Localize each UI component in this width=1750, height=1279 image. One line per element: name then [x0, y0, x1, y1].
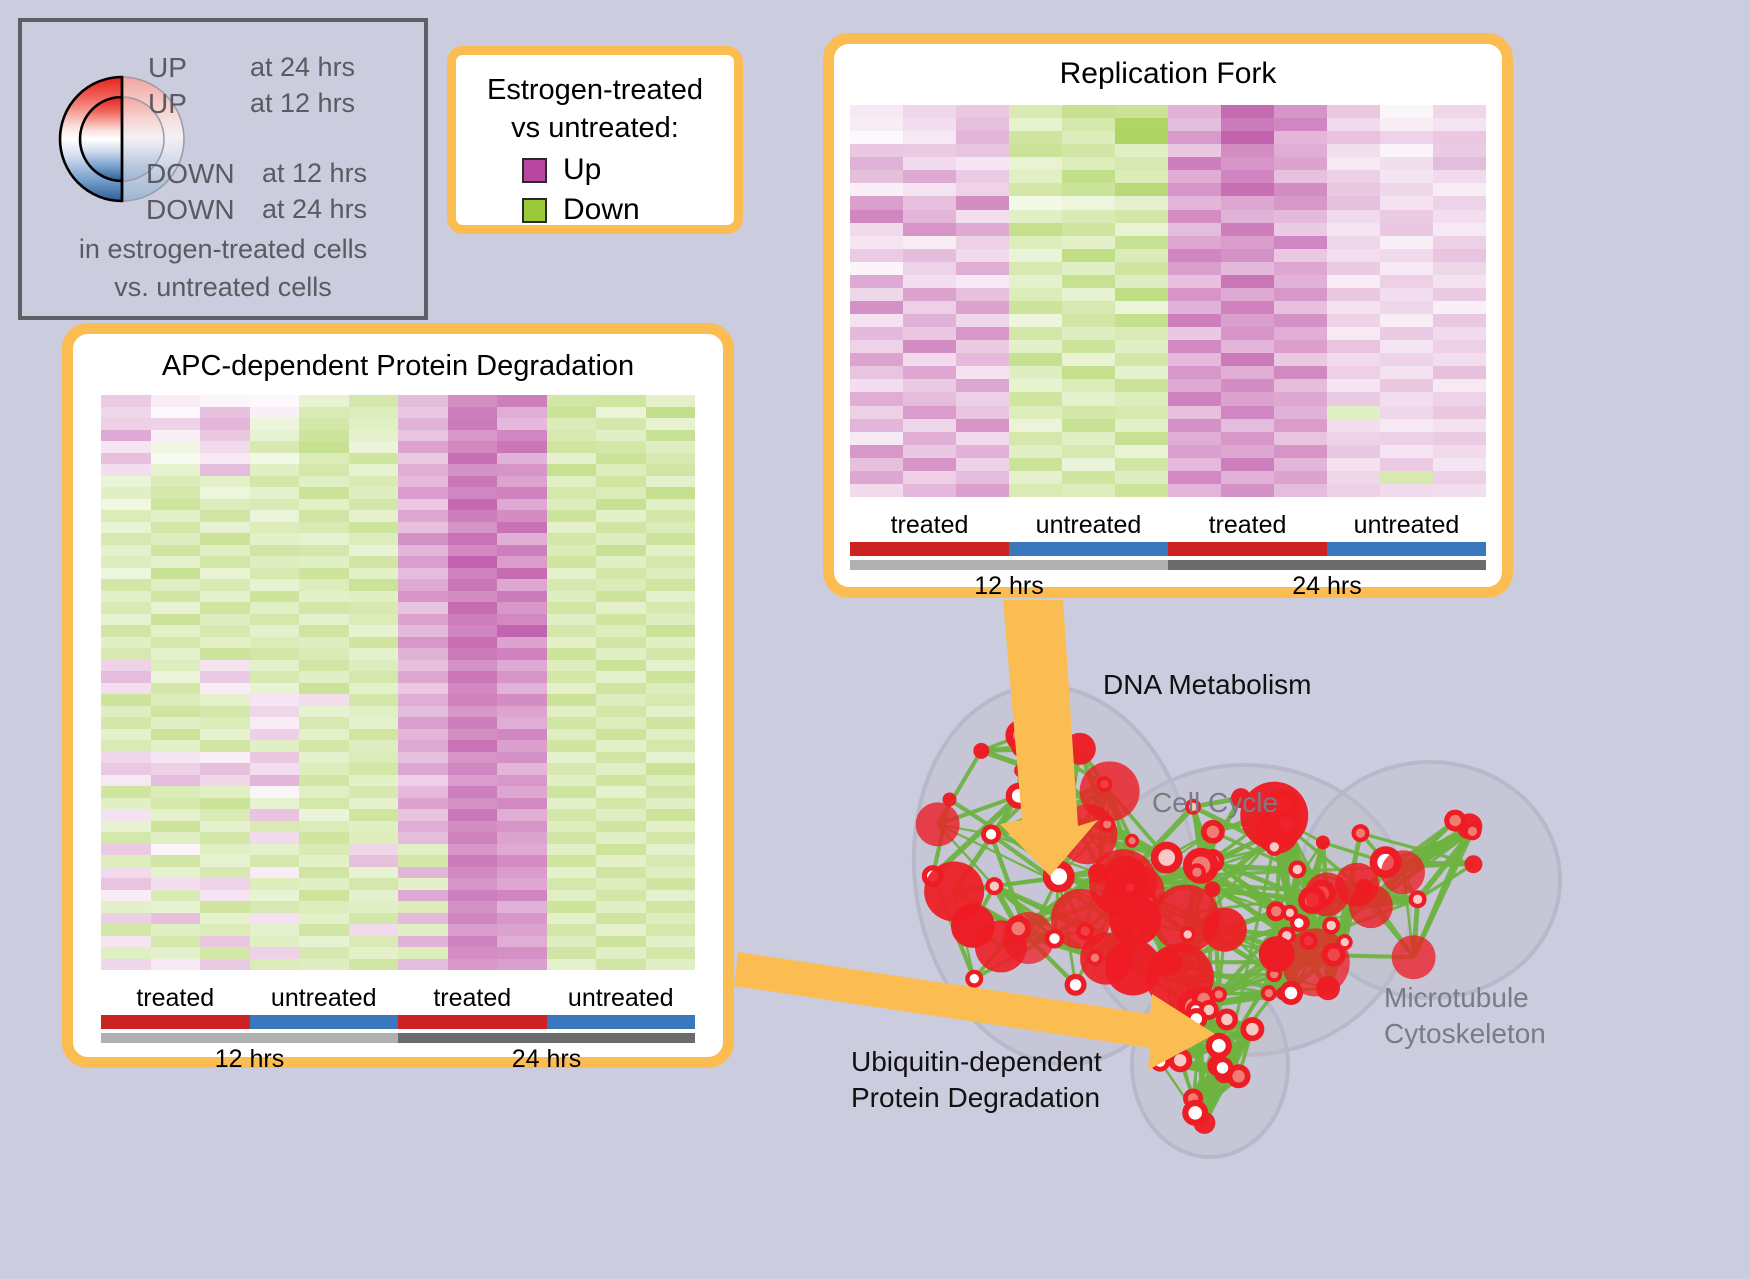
heatmap-cell: [596, 786, 646, 798]
heatmap-cell: [646, 660, 696, 672]
heatmap-cell: [299, 625, 349, 637]
heatmap-cell: [497, 533, 547, 545]
heatmap-cell: [1115, 419, 1168, 432]
heatmap-cell: [1380, 327, 1433, 340]
heatmap-cell: [250, 717, 300, 729]
heatmap-cell: [547, 890, 597, 902]
heatmap-cell: [596, 798, 646, 810]
heatmap-cell: [547, 763, 597, 775]
heatmap-cell: [1062, 131, 1115, 144]
heatmap-cell: [101, 809, 151, 821]
heatmap-cell: [1274, 183, 1327, 196]
heatmap-cell: [1168, 288, 1221, 301]
heatmap-cell: [1433, 445, 1486, 458]
heatmap-cell: [497, 717, 547, 729]
heatmap-cell: [646, 637, 696, 649]
heatmap-cell: [1221, 223, 1274, 236]
heatmap-cell: [646, 522, 696, 534]
heatmap-cell: [1327, 223, 1380, 236]
heatmap-cell: [200, 395, 250, 407]
heatmap-cell: [1168, 353, 1221, 366]
heatmap-cell: [448, 798, 498, 810]
heatmap-cell: [101, 683, 151, 695]
rf-timepoint-bar: [850, 560, 1486, 570]
heatmap-cell: [349, 476, 399, 488]
heatmap-cell: [1168, 471, 1221, 484]
heatmap-cell: [101, 545, 151, 557]
heatmap-cell: [349, 430, 399, 442]
heatmap-cell: [1380, 157, 1433, 170]
heatmap-cell: [299, 464, 349, 476]
heatmap-cell: [1380, 196, 1433, 209]
heatmap-cell: [398, 890, 448, 902]
group-label: treated: [101, 984, 250, 1013]
heatmap-cell: [151, 648, 201, 660]
heatmap-cell: [547, 706, 597, 718]
heatmap-cell: [1115, 275, 1168, 288]
heatmap-cell: [1274, 262, 1327, 275]
heatmap-cell: [1168, 196, 1221, 209]
heatmap-cell: [547, 648, 597, 660]
heatmap-cell: [1062, 275, 1115, 288]
heatmap-cell: [398, 924, 448, 936]
network-node: [1080, 761, 1140, 821]
network-node: [942, 793, 956, 807]
heatmap-cell: [596, 671, 646, 683]
heatmap-cell: [1115, 157, 1168, 170]
heatmap-cell: [349, 936, 399, 948]
heatmap-cell: [398, 579, 448, 591]
heatmap-cell: [1221, 458, 1274, 471]
heatmap-cell: [646, 706, 696, 718]
heatmap-cell: [850, 131, 903, 144]
heatmap-cell: [596, 614, 646, 626]
heatmap-cell: [956, 210, 1009, 223]
heatmap-cell: [448, 855, 498, 867]
heatmap-cell: [596, 867, 646, 879]
heatmap-cell: [497, 763, 547, 775]
replication-fork-title: Replication Fork: [834, 57, 1502, 91]
heatmap-cell: [299, 752, 349, 764]
heatmap-cell: [547, 683, 597, 695]
heatmap-cell: [151, 763, 201, 775]
heatmap-cell: [497, 878, 547, 890]
heatmap-cell: [349, 809, 399, 821]
network-node: [1305, 872, 1349, 916]
heatmap-cell: [349, 947, 399, 959]
heatmap-cell: [1062, 379, 1115, 392]
heatmap-cell: [448, 602, 498, 614]
heatmap-cell: [349, 775, 399, 787]
heatmap-cell: [1433, 183, 1486, 196]
timepoint-segment: [398, 1033, 695, 1043]
heatmap-cell: [903, 249, 956, 262]
heatmap-cell: [596, 407, 646, 419]
heatmap-cell: [448, 867, 498, 879]
heatmap-cell: [151, 430, 201, 442]
heatmap-cell: [547, 660, 597, 672]
heatmap-cell: [101, 522, 151, 534]
heatmap-cell: [1380, 432, 1433, 445]
heatmap-cell: [1380, 340, 1433, 353]
heatmap-cell: [646, 786, 696, 798]
heatmap-cell: [1221, 366, 1274, 379]
heatmap-cell: [398, 763, 448, 775]
heatmap-cell: [1327, 353, 1380, 366]
heatmap-cell: [1115, 131, 1168, 144]
heatmap-cell: [1274, 105, 1327, 118]
heatmap-cell: [1062, 353, 1115, 366]
network-node-core: [1449, 815, 1460, 826]
heatmap-cell: [200, 637, 250, 649]
heatmap-cell: [349, 821, 399, 833]
heatmap-cell: [200, 775, 250, 787]
heatmap-cell: [1433, 484, 1486, 497]
heatmap-cell: [101, 591, 151, 603]
heatmap-cell: [547, 867, 597, 879]
heatmap-cell: [596, 395, 646, 407]
heatmap-cell: [646, 809, 696, 821]
heatmap-cell: [1062, 301, 1115, 314]
heatmap-cell: [1168, 458, 1221, 471]
heatmap-cell: [349, 763, 399, 775]
heatmap-cell: [497, 786, 547, 798]
heatmap-cell: [497, 441, 547, 453]
heatmap-cell: [250, 694, 300, 706]
heatmap-cell: [1168, 445, 1221, 458]
heatmap-cell: [299, 947, 349, 959]
heatmap-cell: [151, 844, 201, 856]
heatmap-cell: [1433, 249, 1486, 262]
heatmap-cell: [497, 487, 547, 499]
heatmap-cell: [349, 890, 399, 902]
heatmap-cell: [250, 706, 300, 718]
heatmap-cell: [299, 545, 349, 557]
heatmap-cell: [497, 545, 547, 557]
heatmap-cell: [1327, 118, 1380, 131]
heatmap-cell: [349, 798, 399, 810]
heatmap-cell: [956, 131, 1009, 144]
heatmap-cell: [1327, 379, 1380, 392]
heatmap-cell: [1274, 144, 1327, 157]
heatmap-cell: [1380, 262, 1433, 275]
heatmap-cell: [101, 499, 151, 511]
heatmap-cell: [646, 591, 696, 603]
heatmap-cell: [646, 499, 696, 511]
heatmap-cell: [151, 832, 201, 844]
heatmap-cell: [448, 947, 498, 959]
heatmap-cell: [1009, 118, 1062, 131]
heatmap-cell: [1009, 288, 1062, 301]
estrogen-legend-title: Estrogen-treated vs untreated:: [456, 71, 734, 147]
heatmap-cell: [1168, 366, 1221, 379]
heatmap-cell: [200, 706, 250, 718]
heatmap-cell: [200, 522, 250, 534]
heatmap-cell: [1380, 288, 1433, 301]
heatmap-cell: [398, 533, 448, 545]
heatmap-cell: [903, 445, 956, 458]
heatmap-cell: [448, 614, 498, 626]
heatmap-cell: [349, 867, 399, 879]
heatmap-cell: [497, 959, 547, 971]
group-label: treated: [850, 511, 1009, 540]
heatmap-cell: [1115, 445, 1168, 458]
heatmap-cell: [101, 798, 151, 810]
heatmap-cell: [956, 183, 1009, 196]
heatmap-cell: [1009, 131, 1062, 144]
heatmap-cell: [151, 671, 201, 683]
heatmap-cell: [349, 729, 399, 741]
network-node: [951, 904, 995, 948]
heatmap-cell: [398, 798, 448, 810]
legend-item-down: Down: [522, 193, 734, 227]
heatmap-cell: [200, 832, 250, 844]
network-node-core: [1012, 789, 1026, 803]
heatmap-cell: [956, 288, 1009, 301]
heatmap-cell: [850, 340, 903, 353]
heatmap-cell: [850, 432, 903, 445]
heatmap-cell: [1062, 249, 1115, 262]
heatmap-cell: [250, 890, 300, 902]
network-node-core: [1017, 741, 1028, 752]
heatmap-cell: [646, 648, 696, 660]
heatmap-cell: [850, 249, 903, 262]
heatmap-cell: [448, 878, 498, 890]
replication-fork-axis: treateduntreatedtreateduntreated 12 hrs2…: [850, 511, 1486, 601]
heatmap-cell: [349, 441, 399, 453]
heatmap-cell: [850, 183, 903, 196]
heatmap-cell: [1274, 249, 1327, 262]
heatmap-cell: [1380, 392, 1433, 405]
heatmap-cell: [1115, 432, 1168, 445]
heatmap-cell: [850, 301, 903, 314]
heatmap-cell: [101, 947, 151, 959]
heatmap-cell: [398, 591, 448, 603]
heatmap-cell: [448, 464, 498, 476]
heatmap-cell: [1115, 379, 1168, 392]
group-label: untreated: [1327, 511, 1486, 540]
network-node-core: [1468, 827, 1477, 836]
heatmap-cell: [547, 786, 597, 798]
heatmap-cell: [299, 924, 349, 936]
heatmap-cell: [101, 671, 151, 683]
heatmap-cell: [1168, 262, 1221, 275]
heatmap-cell: [903, 262, 956, 275]
heatmap-cell: [250, 579, 300, 591]
heatmap-cell: [1327, 406, 1380, 419]
heatmap-cell: [596, 533, 646, 545]
heatmap-cell: [200, 740, 250, 752]
heatmap-cell: [250, 660, 300, 672]
heatmap-cell: [1221, 419, 1274, 432]
heatmap-cell: [1274, 340, 1327, 353]
heatmap-cell: [299, 694, 349, 706]
network-node-core: [1215, 990, 1223, 998]
heatmap-cell: [101, 637, 151, 649]
heatmap-cell: [596, 809, 646, 821]
heatmap-cell: [1115, 484, 1168, 497]
heatmap-cell: [497, 706, 547, 718]
heatmap-cell: [200, 752, 250, 764]
heatmap-cell: [1327, 170, 1380, 183]
heatmap-cell: [299, 844, 349, 856]
heatmap-cell: [250, 625, 300, 637]
heatmap-cell: [903, 210, 956, 223]
heatmap-cell: [1009, 105, 1062, 118]
heatmap-cell: [1327, 419, 1380, 432]
heatmap-cell: [1327, 249, 1380, 262]
heatmap-cell: [1168, 379, 1221, 392]
heatmap-cell: [448, 959, 498, 971]
heatmap-cell: [349, 706, 399, 718]
heatmap-cell: [398, 936, 448, 948]
heatmap-cell: [299, 832, 349, 844]
network-node: [1105, 940, 1161, 996]
heatmap-cell: [1221, 249, 1274, 262]
wheel-subtitle-line2: vs. untreated cells: [22, 268, 424, 306]
heatmap-cell: [646, 729, 696, 741]
heatmap-cell: [151, 441, 201, 453]
heatmap-cell: [646, 395, 696, 407]
heatmap-cell: [200, 602, 250, 614]
heatmap-cell: [850, 210, 903, 223]
heatmap-cell: [398, 441, 448, 453]
heatmap-cell: [850, 366, 903, 379]
heatmap-cell: [1274, 471, 1327, 484]
time-label: 24 hrs: [1168, 572, 1486, 601]
heatmap-cell: [250, 775, 300, 787]
heatmap-cell: [646, 407, 696, 419]
heatmap-cell: [497, 430, 547, 442]
heatmap-cell: [250, 418, 300, 430]
heatmap-cell: [497, 464, 547, 476]
rf-group-labels: treateduntreatedtreateduntreated: [850, 511, 1486, 540]
heatmap-cell: [250, 821, 300, 833]
heatmap-cell: [903, 183, 956, 196]
network-node-core: [1128, 837, 1135, 844]
heatmap-cell: [101, 395, 151, 407]
heatmap-cell: [349, 901, 399, 913]
heatmap-cell: [1062, 327, 1115, 340]
heatmap-cell: [1062, 157, 1115, 170]
heatmap-cell: [250, 867, 300, 879]
heatmap-cell: [646, 878, 696, 890]
heatmap-cell: [850, 275, 903, 288]
heatmap-cell: [448, 786, 498, 798]
heatmap-cell: [1062, 484, 1115, 497]
heatmap-cell: [1433, 432, 1486, 445]
heatmap-cell: [596, 683, 646, 695]
heatmap-cell: [448, 453, 498, 465]
heatmap-cell: [1168, 392, 1221, 405]
heatmap-cell: [850, 392, 903, 405]
heatmap-cell: [1009, 249, 1062, 262]
heatmap-cell: [200, 821, 250, 833]
heatmap-cell: [1380, 223, 1433, 236]
heatmap-cell: [1062, 196, 1115, 209]
heatmap-cell: [200, 499, 250, 511]
heatmap-cell: [1168, 183, 1221, 196]
heatmap-cell: [101, 959, 151, 971]
heatmap-cell: [299, 798, 349, 810]
network-node-core: [1270, 842, 1279, 851]
heatmap-cell: [299, 901, 349, 913]
heatmap-cell: [596, 878, 646, 890]
heatmap-cell: [1327, 157, 1380, 170]
heatmap-cell: [101, 625, 151, 637]
heatmap-cell: [1221, 170, 1274, 183]
heatmap-cell: [1062, 183, 1115, 196]
heatmap-cell: [646, 430, 696, 442]
heatmap-cell: [547, 855, 597, 867]
heatmap-cell: [547, 579, 597, 591]
heatmap-cell: [200, 947, 250, 959]
network-node-core: [1049, 933, 1059, 943]
heatmap-cell: [1380, 144, 1433, 157]
heatmap-cell: [497, 568, 547, 580]
heatmap-cell: [1115, 223, 1168, 236]
heatmap-cell: [956, 301, 1009, 314]
heatmap-cell: [398, 522, 448, 534]
heatmap-cell: [398, 913, 448, 925]
heatmap-cell: [1327, 105, 1380, 118]
heatmap-cell: [1062, 288, 1115, 301]
heatmap-cell: [101, 729, 151, 741]
heatmap-cell: [1221, 144, 1274, 157]
heatmap-cell: [596, 487, 646, 499]
network-node: [1104, 856, 1148, 900]
heatmap-cell: [497, 809, 547, 821]
heatmap-cell: [903, 340, 956, 353]
wheel-row-1-state: UP: [148, 88, 187, 120]
heatmap-cell: [101, 614, 151, 626]
heatmap-cell: [398, 464, 448, 476]
network-node: [1014, 763, 1028, 777]
heatmap-cell: [398, 752, 448, 764]
heatmap-cell: [1009, 327, 1062, 340]
heatmap-cell: [1433, 327, 1486, 340]
heatmap-cell: [101, 464, 151, 476]
heatmap-cell: [299, 890, 349, 902]
heatmap-cell: [646, 913, 696, 925]
heatmap-cell: [646, 476, 696, 488]
heatmap-cell: [547, 637, 597, 649]
heatmap-cell: [299, 729, 349, 741]
heatmap-cell: [646, 510, 696, 522]
heatmap-cell: [151, 637, 201, 649]
heatmap-cell: [596, 637, 646, 649]
heatmap-cell: [850, 236, 903, 249]
network-node: [1392, 935, 1436, 979]
heatmap-cell: [497, 418, 547, 430]
heatmap-cell: [349, 568, 399, 580]
heatmap-cell: [596, 418, 646, 430]
heatmap-cell: [101, 453, 151, 465]
heatmap-cell: [398, 568, 448, 580]
treatment-segment: [101, 1015, 250, 1029]
heatmap-cell: [1274, 366, 1327, 379]
heatmap-cell: [850, 314, 903, 327]
heatmap-cell: [299, 763, 349, 775]
heatmap-cell: [547, 522, 597, 534]
heatmap-cell: [1327, 392, 1380, 405]
timepoint-segment: [101, 1033, 398, 1043]
network-node-core: [1191, 1013, 1202, 1024]
heatmap-cell: [1115, 314, 1168, 327]
network-node-core: [1155, 1056, 1165, 1066]
heatmap-cell: [956, 445, 1009, 458]
heatmap-cell: [497, 637, 547, 649]
